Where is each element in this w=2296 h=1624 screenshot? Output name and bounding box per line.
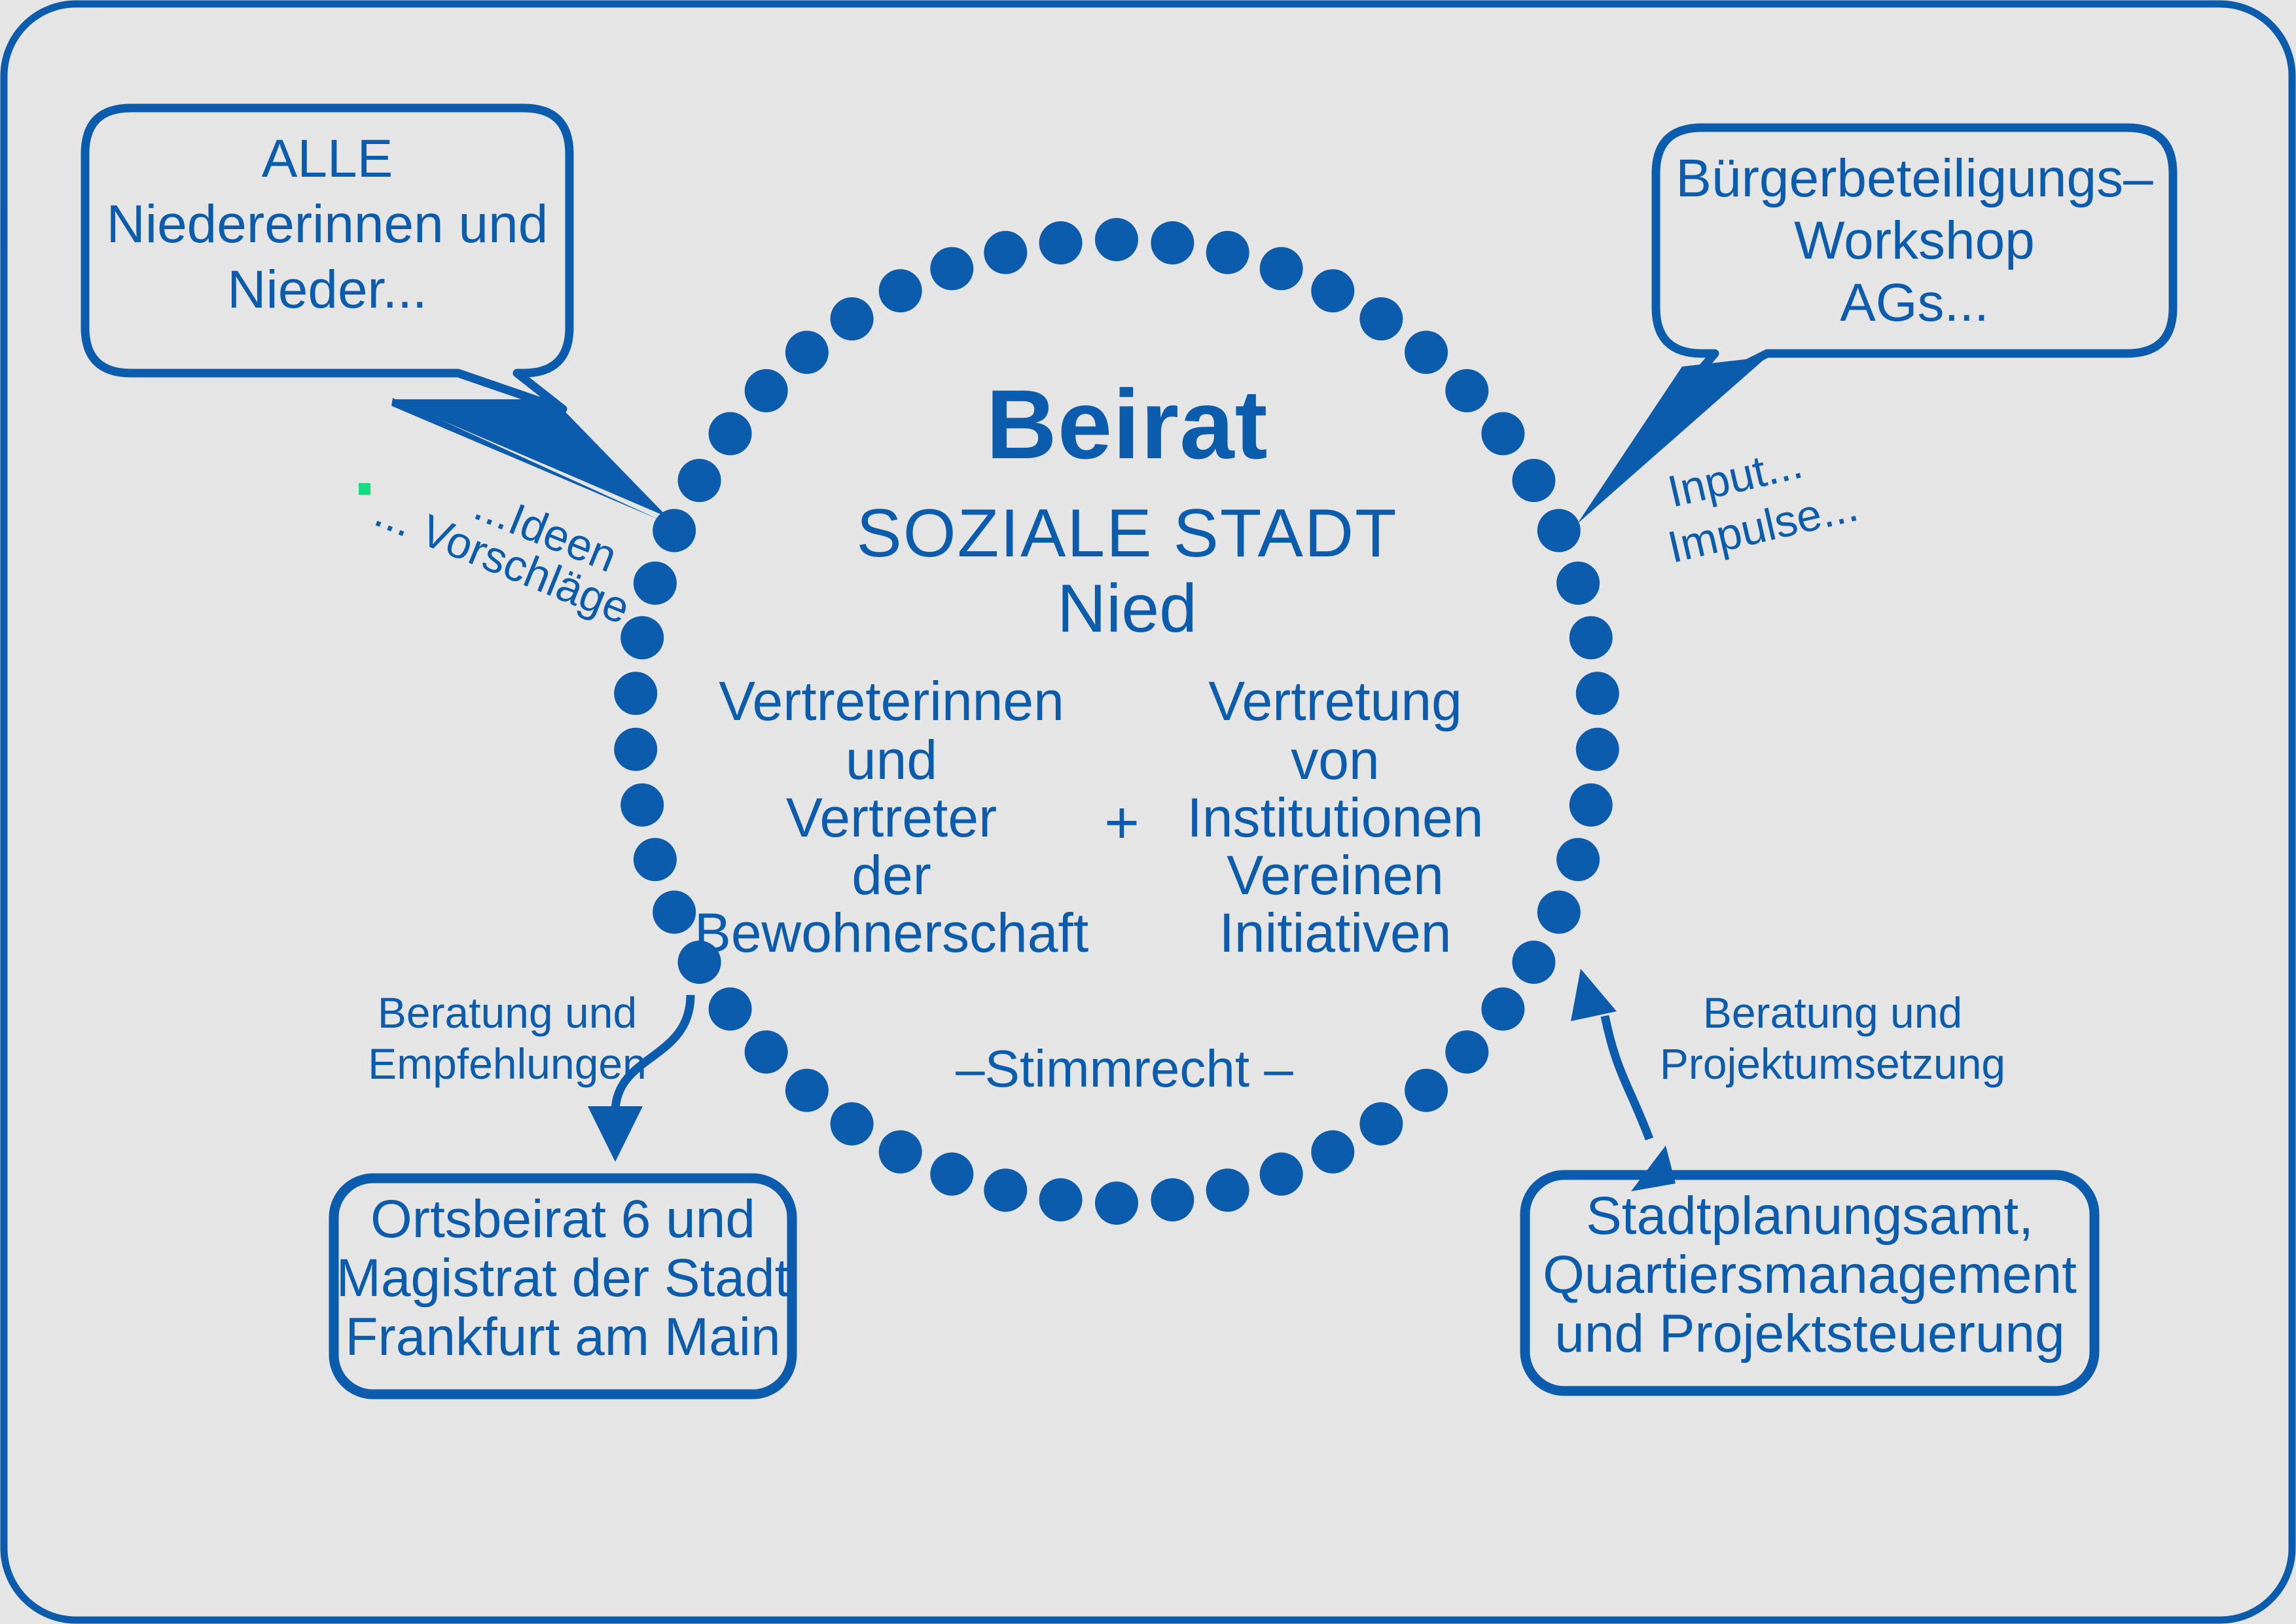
right-col-line-1: Vertretung (1208, 670, 1462, 732)
ring-dot (930, 247, 973, 290)
ring-dot (634, 838, 677, 881)
box-bl-line-2: Magistrat der Stadt (336, 1248, 790, 1308)
ring-dot (831, 297, 874, 340)
ring-dot (653, 891, 696, 934)
ring-dot (785, 1069, 829, 1112)
edge-label-right-top: Input... Impulse... (1663, 438, 1862, 573)
ring-dot (1260, 247, 1303, 290)
ring-dot (1311, 269, 1354, 312)
ring-dot (1039, 1178, 1083, 1221)
ring-dot (745, 1030, 788, 1074)
ring-dot (1556, 562, 1600, 605)
ring-dot (1359, 1102, 1403, 1146)
right-column-group: Vertretung von Institutionen Vereinen In… (1187, 670, 1484, 964)
left-col-line-4: der (852, 844, 931, 906)
box-bl-line-1: Ortsbeirat 6 und (370, 1189, 755, 1249)
ring-dot (1039, 221, 1083, 264)
center-subtitle-line2: Nied (1057, 571, 1197, 647)
ring-dot (1206, 231, 1249, 274)
ring-dot (879, 269, 922, 312)
ring-dot (1405, 1069, 1448, 1112)
ring-dot (745, 369, 788, 412)
edge-label-right-bottom-line-2: Projektumsetzung (1660, 1039, 2005, 1088)
ring-dot (614, 672, 657, 715)
ring-dot (614, 728, 657, 771)
ring-dot (653, 509, 696, 552)
bubble-tl-line-3: Nieder... (227, 260, 427, 319)
edge-label-left-bottom: Beratung und Empfehlungen (368, 988, 647, 1088)
bubble-tr-line-1: Bürgerbeteiligungs– (1676, 149, 2153, 208)
bubble-tl-line-2: Niedererinnen und (107, 194, 548, 254)
ring-dot (1556, 838, 1600, 881)
ring-dot (1311, 1130, 1354, 1174)
edge-label-left-top: ...Ideen ... Vorschläge (359, 480, 637, 634)
stimmrecht-note: –Stimmrecht – (956, 1039, 1293, 1098)
left-col-line-5: Bewohnerschaft (694, 902, 1088, 964)
ring-dot (678, 459, 721, 502)
ring-dot (785, 331, 829, 374)
speech-bubble-top-right[interactable]: Bürgerbeteiligungs– Workshop AGs... (1577, 128, 2173, 524)
ring-dot (1481, 412, 1524, 456)
ring-dot (620, 784, 664, 827)
edge-label-left-bottom-line-1: Beratung und (378, 988, 637, 1037)
bubble-tl-line-1: ALLE (262, 129, 393, 189)
box-bottom-right[interactable]: Stadtplanungsamt, Quartiersmanagement un… (1525, 1175, 2094, 1391)
edge-label-right-bottom-line-1: Beratung und (1703, 988, 1962, 1037)
ring-dot (1576, 728, 1619, 771)
ring-dot (1095, 218, 1138, 261)
bubble-tr-line-3: AGs... (1840, 273, 1989, 333)
left-col-line-1: Vertreterinnen (719, 670, 1064, 732)
center-title: Beirat (986, 369, 1268, 479)
ring-dot (1570, 784, 1613, 827)
diagram-canvas: Beirat SOZIALE STADT Nied Vertreterinnen… (0, 0, 2296, 1624)
plus-sign: + (1104, 789, 1139, 856)
beirat-soziale-stadt-diagram: Beirat SOZIALE STADT Nied Vertreterinnen… (0, 0, 2296, 1624)
ring-dot (879, 1130, 922, 1174)
ring-dot (634, 562, 677, 605)
right-col-line-3: Institutionen (1187, 787, 1484, 848)
ring-dot (1481, 988, 1524, 1031)
ring-dot (1151, 1178, 1194, 1221)
bubble-tr-line-2: Workshop (1794, 211, 2035, 270)
ring-dot (1576, 672, 1619, 715)
ring-dot (1512, 459, 1555, 502)
left-column-group: Vertreterinnen und Vertreter der Bewohne… (694, 670, 1088, 964)
green-marker-dot (359, 483, 370, 495)
ring-dot (1445, 1030, 1488, 1074)
right-col-line-2: von (1291, 729, 1379, 791)
ring-dot (1359, 297, 1403, 340)
box-bl-line-3: Frankfurt am Main (345, 1307, 780, 1367)
ring-dot (620, 616, 664, 659)
box-br-line-1: Stadtplanungsamt, (1586, 1186, 2034, 1246)
edge-label-right-bottom: Beratung und Projektumsetzung (1660, 988, 2005, 1088)
ring-dot (984, 1168, 1027, 1212)
ring-dot (1151, 221, 1194, 264)
ring-dot (1537, 509, 1581, 552)
ring-dot (930, 1153, 973, 1196)
box-bottom-left[interactable]: Ortsbeirat 6 und Magistrat der Stadt Fra… (334, 1178, 792, 1394)
speech-bubble-top-left[interactable]: ALLE Niedererinnen und Nieder... (85, 108, 668, 517)
ring-dot (984, 231, 1027, 274)
ring-dot (1206, 1168, 1249, 1212)
ring-dot (1405, 331, 1448, 374)
left-col-line-3: Vertreter (786, 787, 997, 848)
center-subtitle-line1: SOZIALE STADT (856, 496, 1397, 571)
ring-dot (1570, 616, 1613, 659)
ring-dot (1512, 941, 1555, 984)
ring-dot (1537, 891, 1581, 934)
right-col-line-5: Initiativen (1219, 902, 1452, 964)
ring-dot (709, 988, 752, 1031)
right-col-line-4: Vereinen (1227, 844, 1444, 906)
ring-dot (709, 412, 752, 456)
box-br-line-3: und Projektsteuerung (1554, 1304, 2065, 1363)
ring-dot (1095, 1182, 1138, 1225)
box-br-line-2: Quartiersmanagement (1543, 1245, 2077, 1305)
ring-dot (1260, 1153, 1303, 1196)
ring-dot (1445, 369, 1488, 412)
left-col-line-2: und (846, 729, 937, 791)
ring-dot (831, 1102, 874, 1146)
edge-label-left-bottom-line-2: Empfehlungen (368, 1039, 647, 1088)
